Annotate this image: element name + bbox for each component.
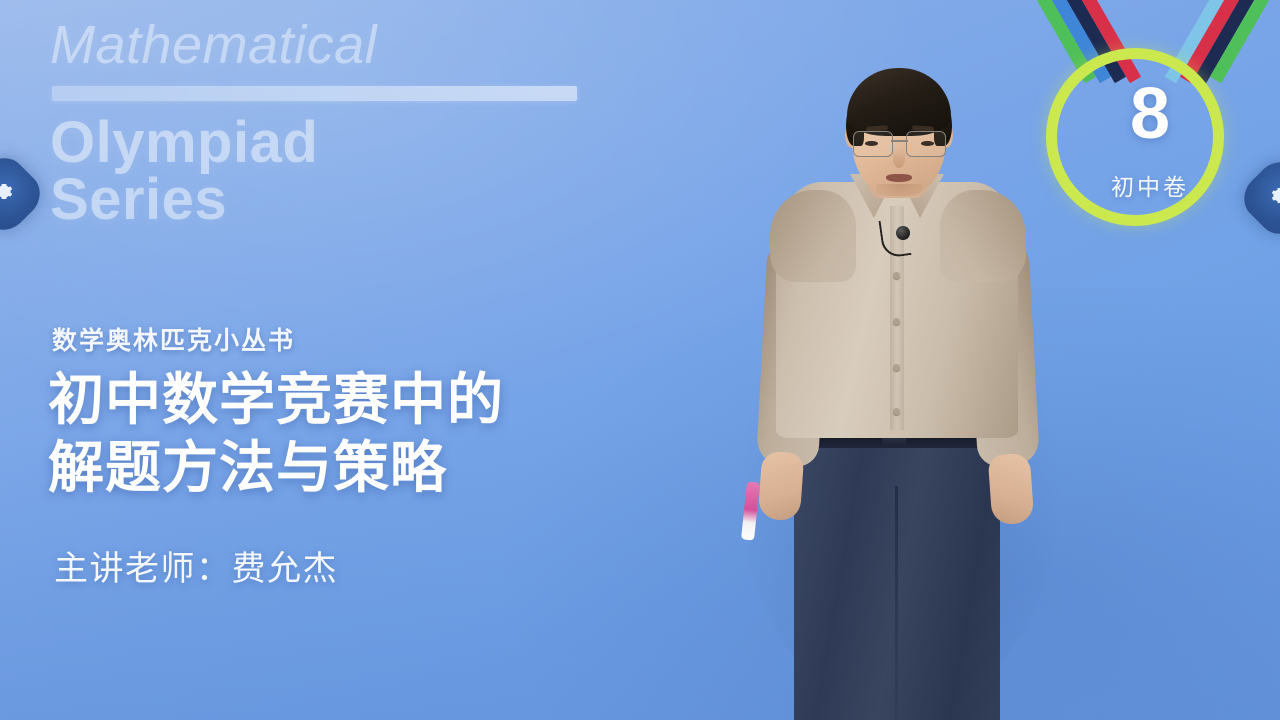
title-line-2: 解题方法与策略 xyxy=(48,434,504,502)
shirt-shoulder-right xyxy=(940,190,1026,282)
shirt-button xyxy=(893,364,900,371)
presenter-hair xyxy=(847,68,951,136)
gear-icon xyxy=(0,182,14,207)
shirt-button xyxy=(893,272,900,279)
title-line-1: 初中数学竞赛中的 xyxy=(48,366,504,434)
decor-badge-left xyxy=(0,149,49,240)
title-divider-bar xyxy=(52,86,577,101)
gear-icon xyxy=(1270,186,1280,211)
presenter-hand-right xyxy=(988,453,1035,526)
lapel-mic-icon xyxy=(896,226,910,240)
lecturer-name: 主讲老师：费允杰 xyxy=(54,541,338,590)
presenter-nose xyxy=(893,148,905,168)
brand-line-olympiad: Olympiad xyxy=(50,115,670,172)
presenter-chin-shadow xyxy=(876,184,922,196)
shirt-button xyxy=(893,408,900,415)
title-block: Mathematical Olympiad Series xyxy=(50,14,670,229)
page-title: 初中数学竞赛中的 解题方法与策略 xyxy=(48,366,504,503)
series-label: 数学奥林匹克小丛书 xyxy=(52,321,295,357)
presenter-figure xyxy=(690,86,1110,720)
brand-line-mathematical: Mathematical xyxy=(50,14,670,76)
brand-line-series: Series xyxy=(50,172,670,229)
shirt-shoulder-left xyxy=(770,190,856,282)
trouser-seam xyxy=(895,486,898,720)
shirt-button xyxy=(893,318,900,325)
brand-wordmark: Olympiad Series xyxy=(50,115,670,229)
presenter-mouth xyxy=(886,174,912,182)
presenter-hand-left xyxy=(758,451,805,522)
video-frame: Mathematical Olympiad Series 数学奥林匹克小丛书 初… xyxy=(0,0,1280,720)
